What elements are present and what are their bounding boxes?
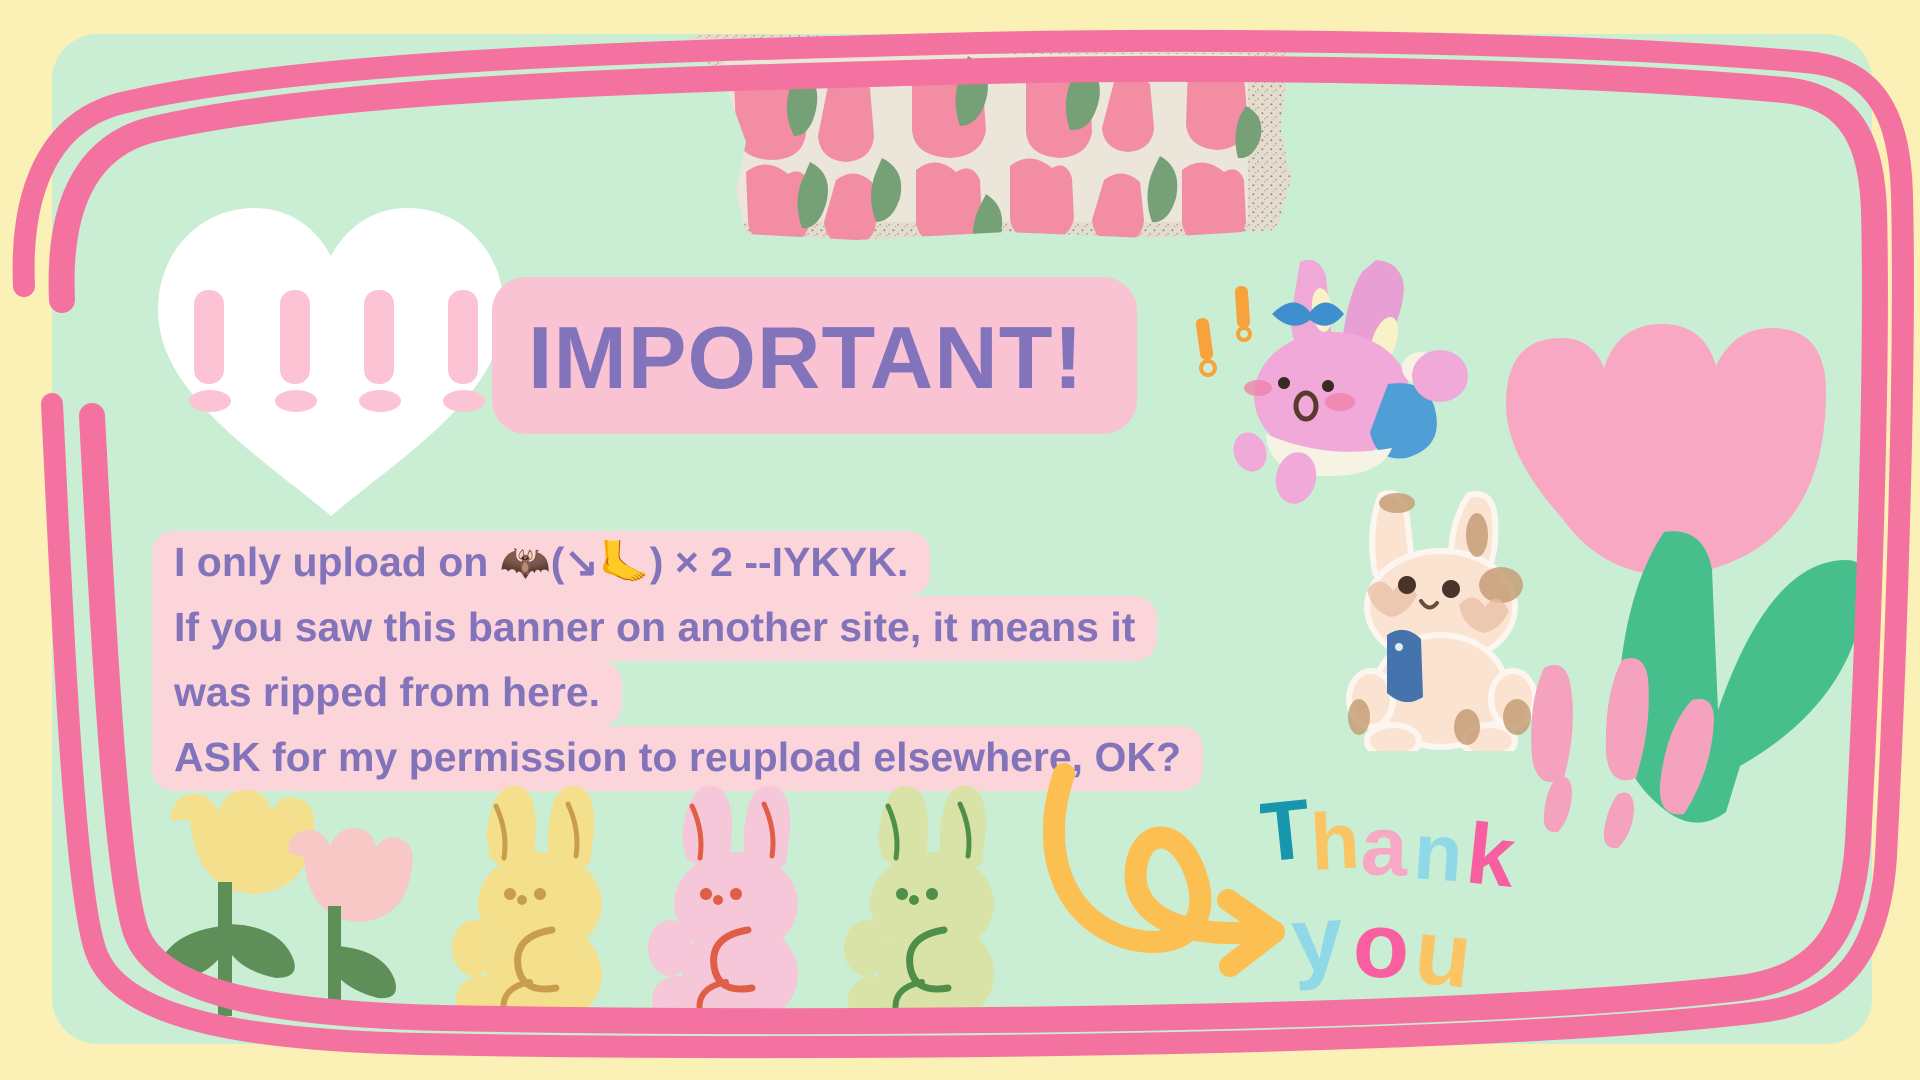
gummy-bunny — [844, 786, 994, 1026]
phone-icon — [1387, 630, 1423, 702]
tulip-pink — [288, 828, 413, 1018]
gummy-bunny-trio — [452, 782, 1042, 1034]
small-tulip-pair — [142, 786, 414, 1034]
gummy-bunny — [648, 786, 798, 1026]
notice-line: was ripped from here. — [152, 661, 622, 726]
gummy-bunny — [452, 786, 602, 1026]
white-heart-with-exclamations — [150, 194, 512, 519]
svg-text:a: a — [1359, 798, 1410, 894]
tulip-yellow — [158, 790, 314, 1016]
svg-text:h: h — [1308, 796, 1361, 887]
banner-canvas: IMPORTANT! I only upload on 🦇(↘🦶) × 2 --… — [0, 0, 1920, 1080]
exclamation-marks — [1195, 286, 1250, 375]
svg-text:y: y — [1288, 887, 1346, 992]
svg-text:k: k — [1462, 805, 1520, 905]
thank-you-lettering: T h a n k y o u — [1260, 786, 1570, 1001]
svg-text:n: n — [1411, 806, 1466, 898]
svg-text:o: o — [1351, 894, 1411, 998]
banner-card: IMPORTANT! I only upload on 🦇(↘🦶) × 2 --… — [52, 34, 1872, 1044]
tulip-washi-tape — [676, 34, 1296, 255]
svg-text:u: u — [1410, 900, 1477, 1001]
svg-text:T: T — [1260, 786, 1315, 880]
pink-flying-bunny — [1188, 256, 1476, 516]
notice-line: I only upload on 🦇(↘🦶) × 2 --IYKYK. — [152, 531, 930, 596]
notice-line: If you saw this banner on another site, … — [152, 596, 1157, 661]
page-title: IMPORTANT! — [528, 299, 1148, 419]
